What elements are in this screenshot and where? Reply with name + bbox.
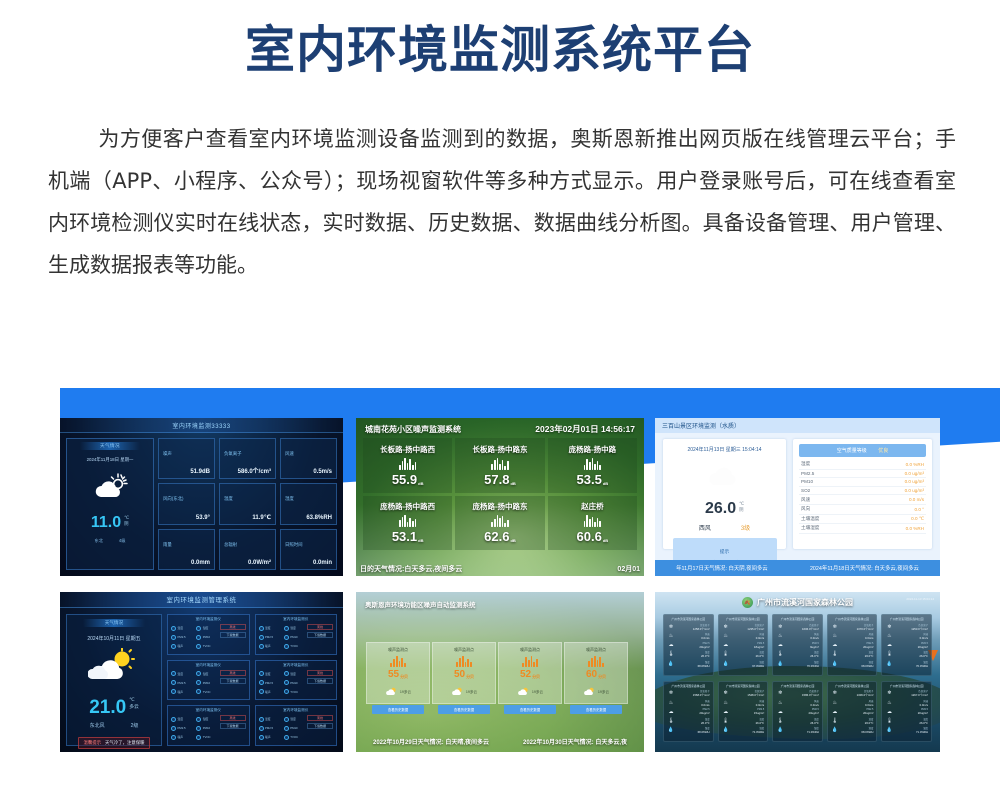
noise-station-card[interactable]: 庞杨路-扬中路 53.5dB xyxy=(548,438,637,493)
panel4-device-grid: 室内环境监测仪 温度 湿度 PM2.5 PM10 噪声 TVOC 离线 下载 xyxy=(167,614,337,746)
metric-name: PM2.5 xyxy=(178,726,186,730)
humidity-icon: 💧 xyxy=(776,661,784,667)
panel2-ticker: 日的天气情况:白天多云,夜间多云 02月01 xyxy=(356,561,644,576)
metric-value: 63.8%RH xyxy=(306,515,332,521)
metric-row: PM100.0 ug/m³ xyxy=(799,478,926,487)
device-status: 离线 xyxy=(307,715,333,721)
metric-row: 土壤温度0.0 ℃ xyxy=(799,515,926,525)
metric-row: 风速0.0 m/s xyxy=(799,495,926,505)
noise-point-card[interactable]: 噪声监测点 55分贝 19多云 查看历史数据 xyxy=(366,642,430,704)
metric-dot-icon xyxy=(284,644,289,649)
station-value: 55.9 xyxy=(392,472,417,487)
wind-icon: ♨ xyxy=(831,633,839,639)
metric-value: 0.0m/s xyxy=(841,636,874,640)
metric-value: 0.0m/s xyxy=(732,636,765,640)
point-value: 50 xyxy=(454,669,465,680)
metric-name: 噪声 xyxy=(265,644,271,648)
metric-value: 26.0℃ xyxy=(841,721,874,725)
panel1-weather-title: 天气情况 xyxy=(80,442,140,450)
wind-icon: ♨ xyxy=(722,633,730,639)
device-status: 离线 xyxy=(220,624,246,630)
metric-dot-icon xyxy=(284,735,289,740)
history-button[interactable]: 查看历史数据 xyxy=(372,705,424,714)
metric-value: 68.0%RH xyxy=(677,730,710,734)
device-card[interactable]: 室内环境监测仪 温度 湿度 PM2.5 PM10 噪声 TVOC 离线 下载 xyxy=(167,614,250,655)
metric-dot-icon xyxy=(196,726,201,731)
metric-value: 0.0 ° xyxy=(915,507,925,512)
metric-name: 温度 xyxy=(178,717,184,721)
metric-value: 1606.0个/cm³ xyxy=(786,627,819,631)
metric-row: SO20.0 ug/m³ xyxy=(799,487,926,496)
panel3-aqi-level: 优良 xyxy=(878,448,888,454)
panel4-alert-banner: 温馨提示 天气冷了，注意保暖 xyxy=(78,737,149,749)
waveform-icon xyxy=(491,515,508,527)
history-button[interactable]: 查看历史数据 xyxy=(504,705,556,714)
intro-paragraph: 为方便客户查看室内环境监测设备监测到的数据，奥斯恩新推出网页版在线管理云平台；手… xyxy=(48,118,956,286)
metric-value: 0.0m/s xyxy=(841,703,874,707)
metric-value: 0.0W/m² xyxy=(248,560,271,566)
metric-dot-icon xyxy=(259,644,264,649)
screenshot-functional-zone-noise[interactable]: 奥斯恩声环境功能区噪声自动监测系统 噪声监测点 55分贝 19多云 查看历史数据… xyxy=(356,592,644,752)
panel1-weather-date: 2024年11月18日 星期一 xyxy=(87,457,134,463)
pm-icon: ☁ xyxy=(776,709,784,715)
metric-cell[interactable]: 噪声51.9dB xyxy=(158,438,215,479)
temperature-icon: 🌡 xyxy=(831,651,839,657)
metric-row: PM2.50.0 ug/m³ xyxy=(799,470,926,479)
screenshot-indoor-env-dashboard[interactable]: 室内环境监测33333 天气情况 2024年11月18日 星期一 xyxy=(60,418,343,576)
metric-value: 26.0℃ xyxy=(786,654,819,658)
station-card[interactable]: 广州市流溪河国家森林公园 ❄负氧离子1606.0个/cm³ ♨风速0.0m/s … xyxy=(772,614,823,676)
point-unit: 分贝 xyxy=(400,674,408,680)
wind-icon: ♨ xyxy=(885,633,893,639)
sun-cloud-icon xyxy=(451,683,463,701)
panel3-weather-desc: 阴 xyxy=(739,507,743,512)
metric-value: 26.0℃ xyxy=(677,654,710,658)
metric-dot-icon xyxy=(284,635,289,640)
metric-value: 20ug/m³ xyxy=(895,645,928,649)
station-unit: dB xyxy=(418,481,423,487)
panel5-ticker: 2022年10月29日天气情况: 白天晴,夜间多云 2022年10月30日天气情… xyxy=(356,737,644,746)
metric-dot-icon xyxy=(171,735,176,740)
temperature-icon: 🌡 xyxy=(722,718,730,724)
metric-dot-icon xyxy=(284,689,289,694)
metric-name: PM2.5 xyxy=(265,681,273,685)
metric-value: 1267.0个/cm³ xyxy=(895,693,928,697)
metric-value: 15ug/m³ xyxy=(732,711,765,715)
download-button[interactable]: 下载数据 xyxy=(220,723,246,729)
wind-icon: ♨ xyxy=(776,700,784,706)
negative-ion-icon: ❄ xyxy=(667,624,675,630)
history-button[interactable]: 查看历史数据 xyxy=(438,705,490,714)
metric-value: 71.0%RH xyxy=(895,730,928,734)
metric-name: TVOC xyxy=(290,690,298,694)
noise-point-card[interactable]: 噪声监测点 60分贝 19多云 查看历史数据 xyxy=(564,642,628,704)
metric-value: 0.0min xyxy=(313,560,332,566)
station-title: 广州市流溪河国家森林公园 xyxy=(831,617,874,621)
station-title: 广州市流溪河国家森林公园 xyxy=(667,617,710,621)
metric-value: 0.0 ug/m³ xyxy=(905,471,924,476)
panel3-temp-unit: ℃ xyxy=(739,501,744,506)
metric-cell[interactable]: 温度11.9℃ xyxy=(219,483,276,524)
metric-value: 26.0℃ xyxy=(786,721,819,725)
metric-dot-icon xyxy=(259,735,264,740)
sun-cloud-icon xyxy=(583,683,595,701)
station-unit: dB xyxy=(510,538,515,544)
panel1-weather-desc: 阴 xyxy=(124,521,128,526)
panel3-aqi-banner: 空气质量等级 优良 xyxy=(799,444,926,457)
metric-value: 68.0%RH xyxy=(841,730,874,734)
station-title: 广州市流溪河国家森林公园 xyxy=(885,684,928,688)
point-name: 噪声监测点 xyxy=(586,647,606,653)
station-card[interactable]: 广州市流溪河国家森林公园 ❄负氧离子1235.0个/cm³ ♨风速0.0m/s … xyxy=(718,614,769,676)
metric-name: 噪声 xyxy=(178,644,184,648)
metric-name: PM2.5 xyxy=(178,681,186,685)
metric-name: PM10 xyxy=(290,681,297,685)
waveform-icon xyxy=(588,656,604,667)
metric-label: 雨量 xyxy=(163,542,172,547)
device-card[interactable]: 室内环境监测仪 温度 湿度 PM2.5 PM10 噪声 TVOC 离线 下载 xyxy=(255,614,338,655)
noise-station-card[interactable]: 长板路-扬中路东 57.8dB xyxy=(455,438,544,493)
point-weather: 19多云 xyxy=(532,690,543,695)
negative-ion-icon: ❄ xyxy=(831,624,839,630)
metric-value: 26.0℃ xyxy=(895,721,928,725)
negative-ion-icon: ❄ xyxy=(885,690,893,696)
metric-value: 0.0m/s xyxy=(677,703,710,707)
metric-value: 26.0℃ xyxy=(732,721,765,725)
metric-dot-icon xyxy=(171,644,176,649)
station-value: 62.6 xyxy=(484,529,509,544)
metric-dot-icon xyxy=(196,644,201,649)
metric-name: 温度 xyxy=(265,717,271,721)
alert-tag: 温馨提示 xyxy=(83,740,101,746)
negative-ion-icon: ❄ xyxy=(776,690,784,696)
metric-label: 日照时间 xyxy=(285,542,303,547)
device-title: 室内环境监测仪 xyxy=(171,617,246,622)
station-name: 赵庄桥 xyxy=(581,501,604,512)
waveform-icon xyxy=(584,515,601,527)
metric-name: 湿度 xyxy=(203,717,209,721)
download-button[interactable]: 下载数据 xyxy=(220,678,246,684)
panel1-wind-dir: 东北 xyxy=(95,538,103,544)
metric-value: 26.0℃ xyxy=(841,654,874,658)
humidity-icon: 💧 xyxy=(831,727,839,733)
metric-name: PM10 xyxy=(203,635,210,639)
metric-name: 噪声 xyxy=(265,690,271,694)
screenshot-community-noise-system[interactable]: 城南花苑小区噪声监测系统 2023年02月01日 14:56:17 长板路-扬中… xyxy=(356,418,644,576)
metric-dot-icon xyxy=(171,626,176,631)
panel2-ticker-right: 02月01 xyxy=(617,564,640,574)
metric-dot-icon xyxy=(171,689,176,694)
station-title: 广州市流溪河国家森林公园 xyxy=(722,617,765,621)
sun-behind-cloud-icon xyxy=(88,648,140,687)
metric-name: TVOC xyxy=(203,735,211,739)
metric-label: 风向(东北) xyxy=(163,496,184,501)
metric-value: 20ug/m³ xyxy=(677,645,710,649)
metric-row: 风向0.0 ° xyxy=(799,505,926,515)
panel4-weather-widget: 天气情况 2024年10月11日 星期五 21.0 xyxy=(66,614,162,746)
metric-dot-icon xyxy=(196,735,201,740)
temperature-icon: 🌡 xyxy=(722,651,730,657)
panel3-datetime: 2024年11月13日 星期三 15:04:14 xyxy=(687,446,761,453)
metric-value: 20ug/m³ xyxy=(841,711,874,715)
metric-name: PM10 xyxy=(290,635,297,639)
panel2-station-grid: 长板路-扬中路西 55.9dB 长板路-扬中路东 57.8dB 庞杨路-扬中路 … xyxy=(356,438,644,550)
metric-label: 负氧离子 xyxy=(224,451,242,456)
negative-ion-icon: ❄ xyxy=(885,624,893,630)
station-card[interactable]: 广州市流溪河国家森林公园 ❄负氧离子1267.0个/cm³ ♨风速0.0m/s … xyxy=(881,681,932,743)
station-card[interactable]: 广州市流溪河国家森林公园 ❄负氧离子1258.0个/cm³ ♨风速0.0m/s … xyxy=(663,614,714,676)
station-card[interactable]: 广州市流溪河国家森林公园 ❄负氧离子1586.0个/cm³ ♨风速0.0m/s … xyxy=(772,681,823,743)
metric-value: 53.9° xyxy=(196,515,210,521)
station-card[interactable]: 广州市流溪河国家森林公园 ❄负氧离子1253.0个/cm³ ♨风速0.0m/s … xyxy=(881,614,932,676)
panel1-temp-unit: ℃ xyxy=(124,515,129,520)
panel2-ticker-left: 日的天气情况:白天多云,夜间多云 xyxy=(360,564,462,574)
metric-dot-icon xyxy=(171,726,176,731)
metric-key: 土壤湿度 xyxy=(801,525,819,531)
cloud-icon xyxy=(704,463,746,492)
point-name: 噪声监测点 xyxy=(388,647,408,653)
panel6-station-grid: 广州市流溪河国家森林公园 ❄负氧离子1258.0个/cm³ ♨风速0.0m/s … xyxy=(663,614,932,742)
point-value: 52 xyxy=(520,669,531,680)
panel4-wind-dir: 东北风 xyxy=(90,722,105,729)
station-card[interactable]: 广州市流溪河国家森林公园 ❄负氧离子1568.0个/cm³ ♨风速0.0m/s … xyxy=(663,681,714,743)
history-button[interactable]: 查看历史数据 xyxy=(570,705,622,714)
waveform-icon xyxy=(522,656,538,667)
metric-row: 湿度0.0 %RH xyxy=(799,460,926,470)
device-card[interactable]: 室内环境监测仪 温度 湿度 PM2.5 PM10 噪声 TVOC 离线 下载 xyxy=(255,705,338,746)
metric-value: 20ug/m³ xyxy=(786,711,819,715)
metric-value: 20ug/m³ xyxy=(677,711,710,715)
panel1-temperature: 11.0 ℃ 阴 xyxy=(91,515,129,531)
metric-dot-icon xyxy=(171,680,176,685)
metric-name: 温度 xyxy=(178,672,184,676)
noise-point-card[interactable]: 噪声监测点 50分贝 19多云 查看历史数据 xyxy=(432,642,496,704)
noise-station-card[interactable]: 庞杨路-扬中路东 62.6dB xyxy=(455,496,544,551)
leaf-logo-icon: 🍂 xyxy=(742,597,753,608)
waveform-icon xyxy=(584,458,601,470)
panel4-weather-title: 天气情况 xyxy=(83,619,145,627)
panel3-aqi-label: 空气质量等级 xyxy=(837,448,867,454)
alert-message: 天气冷了，注意保暖 xyxy=(105,740,145,746)
metric-cell[interactable]: 负氧离子586.0个/cm³ xyxy=(219,438,276,479)
metric-dot-icon xyxy=(259,726,264,731)
download-button[interactable]: 下载数据 xyxy=(307,678,333,684)
metric-dot-icon xyxy=(196,626,201,631)
humidity-icon: 💧 xyxy=(885,727,893,733)
metric-dot-icon xyxy=(171,671,176,676)
metric-value: 20ug/m³ xyxy=(895,711,928,715)
panel1-header: 室内环境监测33333 xyxy=(60,418,343,433)
panel6-timestamp: 2024-11-13 15:04:14 xyxy=(906,597,934,601)
station-unit: dB xyxy=(603,481,608,487)
page-title: 室内环境监测系统平台 xyxy=(0,10,1000,82)
metric-label: 噪声 xyxy=(163,451,172,456)
metric-value: 0.0m/s xyxy=(786,703,819,707)
metric-value: 586.0个/cm³ xyxy=(238,466,271,475)
metric-label: 总辐射 xyxy=(224,542,237,547)
download-button[interactable]: 下载数据 xyxy=(307,723,333,729)
temperature-icon: 🌡 xyxy=(885,651,893,657)
download-button[interactable]: 下载数据 xyxy=(220,632,246,638)
panel2-clock: 2023年02月01日 14:56:17 xyxy=(535,423,635,435)
point-value: 55 xyxy=(388,669,399,680)
metric-value: 0.0m/s xyxy=(895,703,928,707)
metric-cell[interactable]: 日照时间0.0min xyxy=(280,529,337,570)
metric-name: PM10 xyxy=(290,726,297,730)
metric-name: 湿度 xyxy=(290,672,296,676)
metric-value: 71.0%RH xyxy=(732,730,765,734)
metric-name: PM2.5 xyxy=(265,635,273,639)
device-status: 离线 xyxy=(220,670,246,676)
metric-value: 26.0℃ xyxy=(895,654,928,658)
metric-name: 湿度 xyxy=(290,626,296,630)
station-card[interactable]: 广州市流溪河国家森林公园 ❄负氧离子1370.0个/cm³ ♨风速0.0m/s … xyxy=(827,614,878,676)
device-card[interactable]: 室内环境监测仪 温度 湿度 PM2.5 PM10 噪声 TVOC 离线 下载 xyxy=(167,660,250,701)
sun-cloud-icon xyxy=(517,683,529,701)
station-card[interactable]: 广州市流溪河国家森林公园 ❄负氧离子1548.0个/cm³ ♨风速0.0m/s … xyxy=(718,681,769,743)
metric-value: 1306.0个/cm³ xyxy=(841,693,874,697)
device-card[interactable]: 室内环境监测仪 温度 湿度 PM2.5 PM10 噪声 TVOC 离线 下载 xyxy=(255,660,338,701)
station-unit: dB xyxy=(418,538,423,544)
pm-icon: ☁ xyxy=(831,709,839,715)
panel1-weather-widget: 天气情况 2024年11月18日 星期一 11.0 xyxy=(66,438,154,570)
metric-key: 土壤温度 xyxy=(801,516,819,522)
metric-value: 0.0 ℃ xyxy=(911,516,924,522)
panel3-temp-value: 26.0 xyxy=(705,501,736,517)
metric-name: TVOC xyxy=(203,690,211,694)
download-button[interactable]: 下载数据 xyxy=(307,632,333,638)
metric-dot-icon xyxy=(259,689,264,694)
device-title: 室内环境监测仪 xyxy=(171,708,246,713)
metric-key: 湿度 xyxy=(801,461,810,467)
humidity-icon: 💧 xyxy=(885,661,893,667)
metric-label: 风速 xyxy=(285,451,294,456)
metric-value: 0.0 %RH xyxy=(906,462,924,467)
metric-name: 湿度 xyxy=(290,717,296,721)
point-name: 噪声监测点 xyxy=(454,647,474,653)
wind-icon: ♨ xyxy=(722,700,730,706)
pm-icon: ☁ xyxy=(831,642,839,648)
metric-name: TVOC xyxy=(290,735,298,739)
pm-icon: ☁ xyxy=(885,709,893,715)
panel5-title: 奥斯恩声环境功能区噪声自动监测系统 xyxy=(365,599,476,609)
metric-value: 0.0m/s xyxy=(677,636,710,640)
metric-cell[interactable]: 风速0.5m/s xyxy=(280,438,337,479)
point-weather: 19多云 xyxy=(466,690,477,695)
waveform-icon xyxy=(456,656,472,667)
device-card[interactable]: 室内环境监测仪 温度 湿度 PM2.5 PM10 噪声 TVOC 离线 下载 xyxy=(167,705,250,746)
metric-name: PM10 xyxy=(203,726,210,730)
device-status: 离线 xyxy=(307,670,333,676)
metric-cell[interactable]: 总辐射0.0W/m² xyxy=(219,529,276,570)
wind-icon: ♨ xyxy=(776,633,784,639)
station-name: 庞杨路-扬中路西 xyxy=(380,501,435,512)
station-value: 53.1 xyxy=(392,529,417,544)
pm-icon: ☁ xyxy=(667,642,675,648)
humidity-icon: 💧 xyxy=(667,661,675,667)
noise-station-card[interactable]: 长板路-扬中路西 55.9dB xyxy=(363,438,452,493)
waveform-icon xyxy=(390,656,406,667)
metric-dot-icon xyxy=(284,680,289,685)
metric-name: 湿度 xyxy=(203,626,209,630)
panel4-header: 室内环境监测管理系统 xyxy=(60,592,343,608)
metric-label: 温度 xyxy=(224,496,233,501)
metric-cell[interactable]: 湿度63.8%RH xyxy=(280,483,337,524)
metric-name: PM10 xyxy=(203,681,210,685)
metric-value: 1586.0个/cm³ xyxy=(786,693,819,697)
humidity-icon: 💧 xyxy=(722,727,730,733)
station-value: 53.5 xyxy=(577,472,602,487)
metric-cell[interactable]: 雨量0.0mm xyxy=(158,529,215,570)
metric-value: 68.0%RH xyxy=(841,664,874,668)
temperature-icon: 🌡 xyxy=(885,718,893,724)
panel1-temp-value: 11.0 xyxy=(91,515,121,531)
noise-station-card[interactable]: 庞杨路-扬中路西 53.1dB xyxy=(363,496,452,551)
noise-point-card[interactable]: 噪声监测点 52分贝 19多云 查看历史数据 xyxy=(498,642,562,704)
screenshot-scenic-water-quality[interactable]: 三百山景区环境监测（水质） 2024年11月13日 星期三 15:04:14 2… xyxy=(655,418,940,576)
metric-value: 0.0m/s xyxy=(895,636,928,640)
metric-key: 风向 xyxy=(801,506,810,512)
screenshot-forest-park-monitoring[interactable]: 🍂 广州市流溪河国家森林公园 2024-11-13 15:04:14 广州市流溪… xyxy=(655,592,940,752)
pm-icon: ☁ xyxy=(776,642,784,648)
station-card[interactable]: 广州市流溪河国家森林公园 ❄负氧离子1306.0个/cm³ ♨风速0.0m/s … xyxy=(827,681,878,743)
metric-name: 噪声 xyxy=(178,690,184,694)
metric-dot-icon xyxy=(259,717,264,722)
panel4-temp-value: 21.0 xyxy=(89,698,126,717)
metric-value: 70.0%RH xyxy=(786,664,819,668)
metric-dot-icon xyxy=(196,635,201,640)
noise-station-card[interactable]: 赵庄桥 60.6dB xyxy=(548,496,637,551)
wind-icon: ♨ xyxy=(831,700,839,706)
station-unit: dB xyxy=(510,481,515,487)
panel3-metrics-card: 空气质量等级 优良 湿度0.0 %RH PM2.50.0 ug/m³ PM100… xyxy=(793,439,932,549)
waveform-icon xyxy=(399,458,416,470)
temperature-icon: 🌡 xyxy=(831,718,839,724)
metric-dot-icon xyxy=(171,717,176,722)
station-value: 60.6 xyxy=(577,529,602,544)
metric-cell[interactable]: 风向(东北)53.9° xyxy=(158,483,215,524)
screenshot-indoor-env-management[interactable]: 室内环境监测管理系统 天气情况 2024年10月11日 星期五 xyxy=(60,592,343,752)
temperature-icon: 🌡 xyxy=(667,651,675,657)
station-title: 广州市流溪河国家森林公园 xyxy=(722,684,765,688)
metric-name: 噪声 xyxy=(265,735,271,739)
point-unit: 分贝 xyxy=(598,674,606,680)
panel4-weather-date: 2024年10月11日 星期五 xyxy=(87,635,140,642)
metric-value: 51.9dB xyxy=(190,469,210,475)
station-name: 庞杨路-扬中路东 xyxy=(472,501,527,512)
panel5-card-row: 噪声监测点 55分贝 19多云 查看历史数据 噪声监测点 50分贝 19多云 查… xyxy=(366,642,628,704)
metric-value: 18ug/m³ xyxy=(732,645,765,649)
station-unit: dB xyxy=(603,538,608,544)
temperature-icon: 🌡 xyxy=(667,718,675,724)
humidity-icon: 💧 xyxy=(722,661,730,667)
station-title: 广州市流溪河国家森林公园 xyxy=(831,684,874,688)
metric-dot-icon xyxy=(259,680,264,685)
metric-value: 1370.0个/cm³ xyxy=(841,627,874,631)
metric-key: PM10 xyxy=(801,479,813,484)
metric-value: 0.0mm xyxy=(191,560,210,566)
metric-value: 0.0 m/s xyxy=(909,497,924,502)
metric-value: 1548.0个/cm³ xyxy=(732,693,765,697)
panel4-weather-desc: 多云 xyxy=(129,705,139,710)
metric-value: 0.0 ug/m³ xyxy=(905,488,924,493)
panel3-weather-card: 2024年11月13日 星期三 15:04:14 26.0 ℃ 阴 西风 3级 xyxy=(663,439,786,549)
waveform-icon xyxy=(491,458,508,470)
metric-name: TVOC xyxy=(290,644,298,648)
metric-dot-icon xyxy=(196,671,201,676)
metric-value: 0.0m/s xyxy=(786,636,819,640)
metric-dot-icon xyxy=(196,717,201,722)
